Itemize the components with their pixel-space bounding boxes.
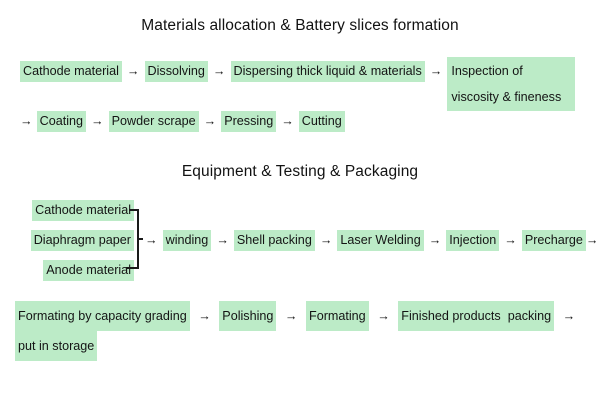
- arrow-icon: →: [193, 309, 216, 323]
- flow-node-precharge[interactable]: Precharge: [522, 230, 586, 251]
- arrow-icon: →: [211, 233, 234, 248]
- flow-node-dissolving[interactable]: Dissolving: [145, 61, 208, 82]
- arrow-icon: →: [586, 233, 600, 248]
- flow-node-inspection-viscosity-fineness[interactable]: Inspection of viscosity & fineness: [447, 57, 575, 111]
- flow-node-formating[interactable]: Formating: [306, 301, 369, 331]
- arrow-icon: →: [424, 233, 447, 248]
- flow-node-cathode-material[interactable]: Cathode material: [20, 61, 122, 82]
- flow-node-dispersing-thick-liquid[interactable]: Dispersing thick liquid & materials: [231, 61, 425, 82]
- flow-node-injection[interactable]: Injection: [446, 230, 499, 251]
- flow-node-winding[interactable]: winding: [163, 230, 212, 251]
- flow-node-laser-welding[interactable]: Laser Welding: [337, 230, 423, 251]
- flow-node-formating-by-capacity-grading[interactable]: Formating by capacity grading: [15, 301, 190, 331]
- flow-node-put-in-storage[interactable]: put in storage: [15, 331, 97, 361]
- arrow-icon: →: [140, 233, 163, 248]
- arrow-icon: →: [199, 114, 222, 129]
- arrow-icon: →: [558, 309, 581, 323]
- arrow-icon: →: [20, 114, 37, 129]
- arrow-icon: →: [276, 114, 299, 129]
- flow-row-equipment-1: → winding → Shell packing → Laser Weldin…: [140, 230, 600, 251]
- arrow-icon: →: [372, 309, 395, 323]
- bracket-stub-bottom: [126, 267, 137, 269]
- flow-node-cathode-material-input[interactable]: Cathode material: [32, 200, 134, 221]
- bracket-input-list: Cathode material Diaphragm paper Anode m…: [14, 200, 134, 281]
- arrow-icon: →: [122, 64, 145, 79]
- flow-node-diaphragm-paper-input[interactable]: Diaphragm paper: [31, 230, 134, 251]
- flow-node-powder-scrape[interactable]: Powder scrape: [109, 111, 199, 132]
- flow-node-polishing[interactable]: Polishing: [219, 301, 276, 331]
- arrow-icon: →: [425, 64, 448, 79]
- flow-row-equipment-2: Formating by capacity grading → Polishin…: [15, 301, 595, 361]
- arrow-icon: →: [280, 309, 303, 323]
- arrow-icon: →: [499, 233, 522, 248]
- flow-node-finished-products-packing[interactable]: Finished products packing: [398, 301, 554, 331]
- section-title-materials-allocation: Materials allocation & Battery slices fo…: [0, 17, 600, 35]
- flow-node-cutting[interactable]: Cutting: [299, 111, 345, 132]
- flow-row-materials-2: → Coating → Powder scrape → Pressing → C…: [20, 111, 345, 132]
- bracket-stub-top: [129, 209, 137, 211]
- flow-node-pressing[interactable]: Pressing: [221, 111, 276, 132]
- section-title-equipment-testing-packaging: Equipment & Testing & Packaging: [0, 163, 600, 181]
- flow-node-coating[interactable]: Coating: [37, 111, 86, 132]
- flow-row-materials-1: Cathode material → Dissolving → Dispersi…: [20, 57, 575, 111]
- arrow-icon: →: [86, 114, 109, 129]
- flow-node-shell-packing[interactable]: Shell packing: [234, 230, 315, 251]
- arrow-icon: →: [208, 64, 231, 79]
- arrow-icon: →: [315, 233, 338, 248]
- flow-node-anode-material-input[interactable]: Anode material: [43, 260, 134, 281]
